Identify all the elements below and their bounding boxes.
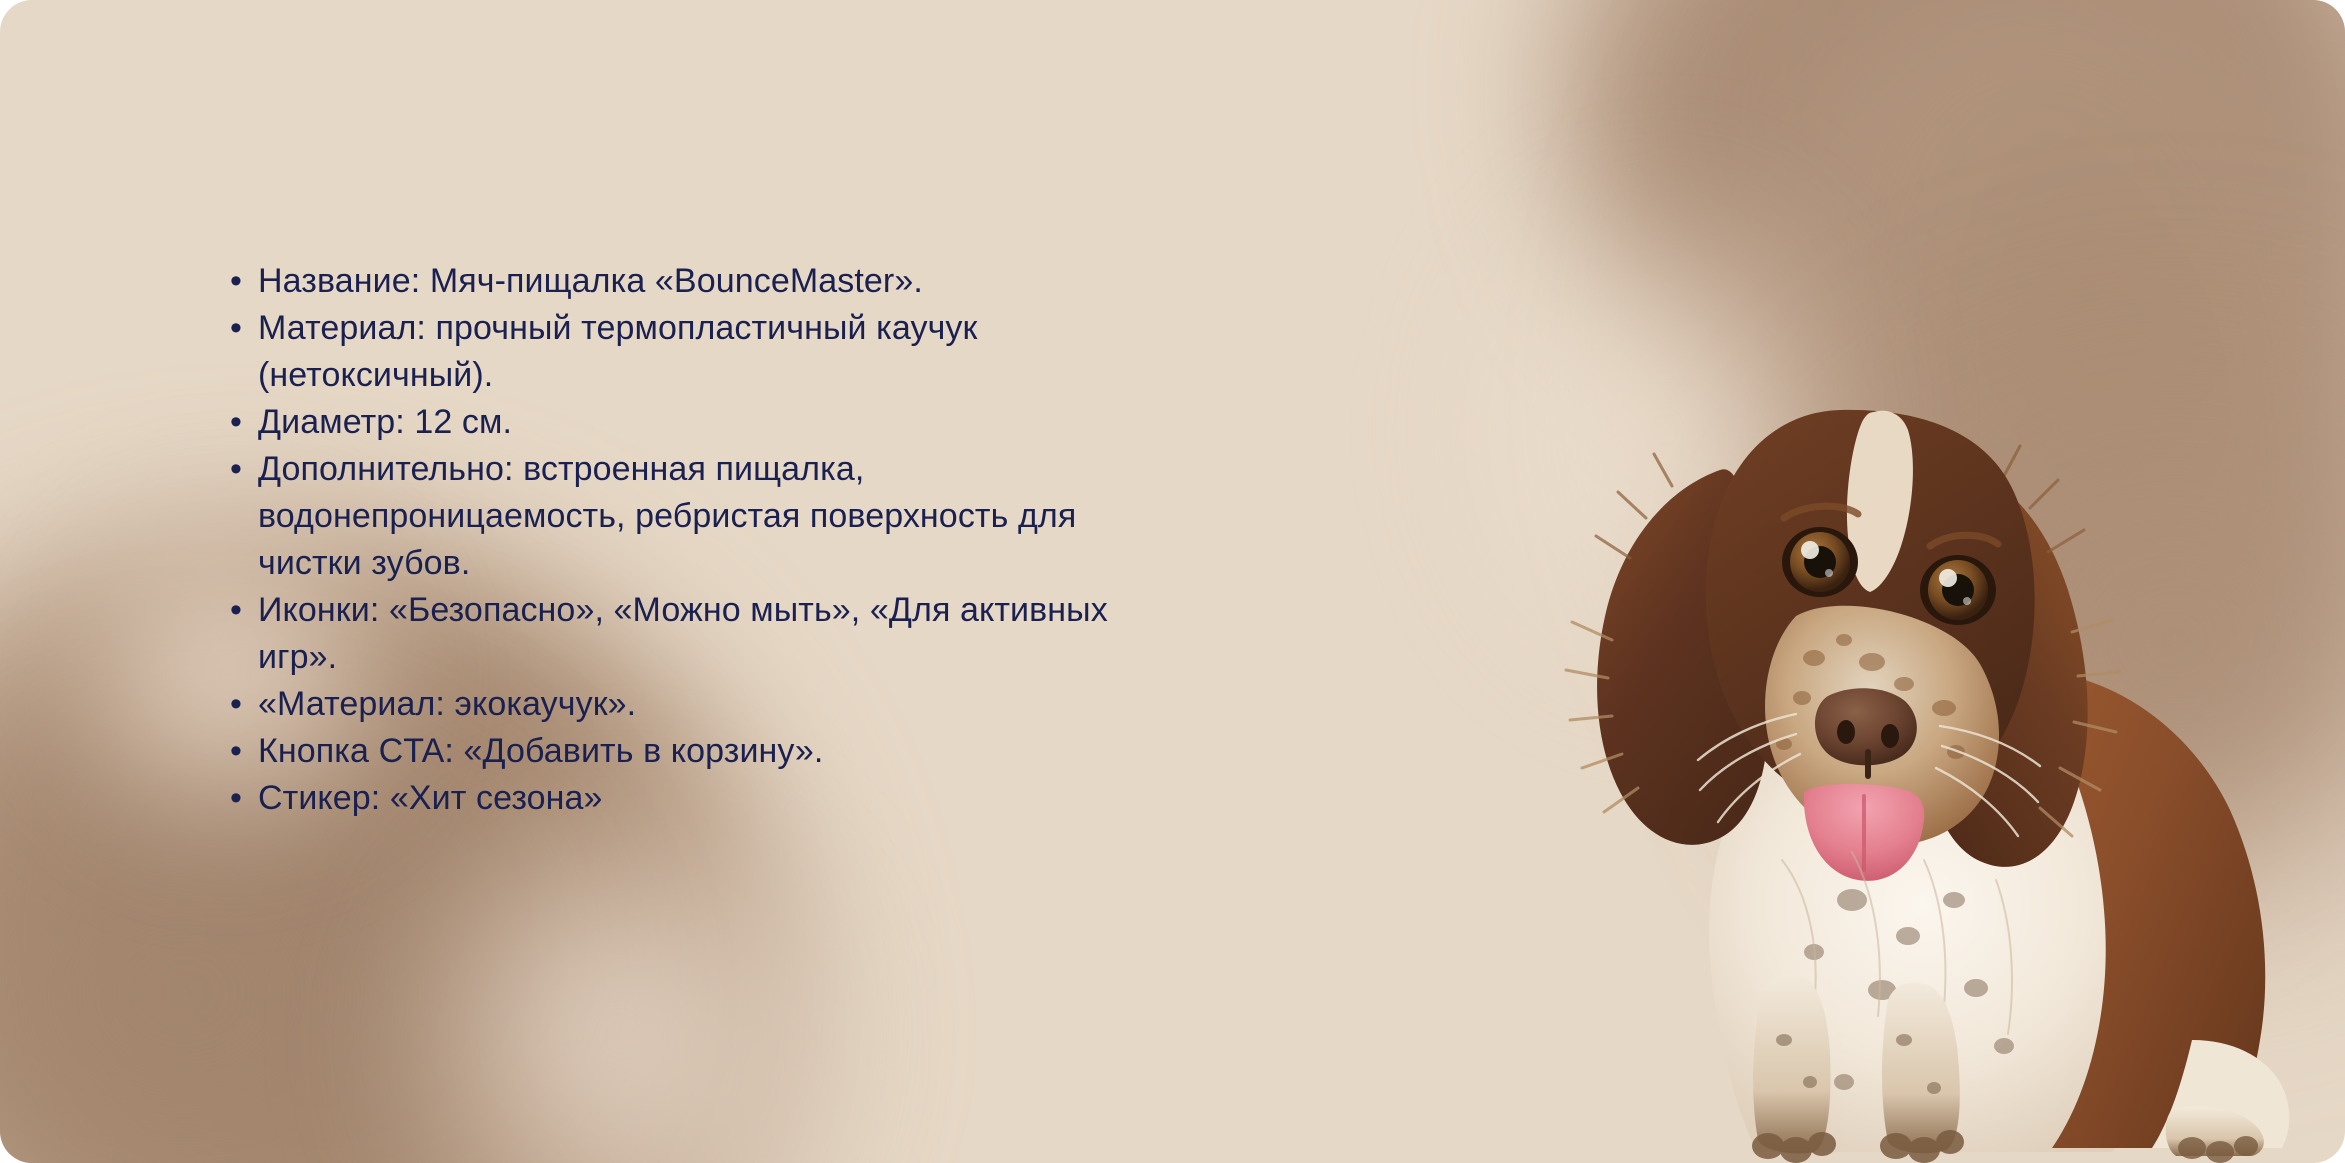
bullet-marker-icon: • <box>228 258 258 305</box>
spec-list-item: •водонепроницаемость, ребристая поверхно… <box>228 493 1558 540</box>
spec-list-item-text: Название: Мяч-пищалка «BounceMaster». <box>258 258 923 305</box>
spec-list-item: •игр». <box>228 634 1558 681</box>
bullet-marker-icon: • <box>228 681 258 728</box>
eye-right <box>1920 555 1996 625</box>
promo-card: •Название: Мяч-пищалка «BounceMaster».•М… <box>0 0 2345 1163</box>
spec-list-item-text: «Материал: экокаучук». <box>258 681 636 728</box>
bullet-marker-icon: • <box>228 728 258 775</box>
puppy-photo <box>1552 340 2345 1163</box>
spec-list-item: •Материал: прочный термопластичный каучу… <box>228 305 1558 352</box>
spec-list-item: •(нетоксичный). <box>228 352 1558 399</box>
eye-left <box>1782 527 1858 597</box>
bullet-marker-icon: • <box>228 399 258 446</box>
spec-list-item: •Кнопка CTA: «Добавить в корзину». <box>228 728 1558 775</box>
spec-list-item: •Дополнительно: встроенная пищалка, <box>228 446 1558 493</box>
spec-list-item: •Иконки: «Безопасно», «Можно мыть», «Для… <box>228 587 1558 634</box>
bullet-marker-icon: • <box>228 446 258 493</box>
spec-list-item-text: Кнопка CTA: «Добавить в корзину». <box>258 728 823 775</box>
spec-list-item-text: чистки зубов. <box>258 540 470 587</box>
spec-list-item-text: (нетоксичный). <box>258 352 493 399</box>
spec-list-item-text: Материал: прочный термопластичный каучук <box>258 305 977 352</box>
spec-list-item: •Название: Мяч-пищалка «BounceMaster». <box>228 258 1558 305</box>
bullet-marker-icon: • <box>228 305 258 352</box>
spec-list-item-text: игр». <box>258 634 337 681</box>
spec-list-item: •«Материал: экокаучук». <box>228 681 1558 728</box>
spec-list-item-text: водонепроницаемость, ребристая поверхнос… <box>258 493 1076 540</box>
spec-list-item-text: Дополнительно: встроенная пищалка, <box>258 446 864 493</box>
spec-list-item-text: Иконки: «Безопасно», «Можно мыть», «Для … <box>258 587 1108 634</box>
product-spec-list: •Название: Мяч-пищалка «BounceMaster».•М… <box>228 258 1558 822</box>
spec-list-item-text: Стикер: «Хит сезона» <box>258 775 603 822</box>
spec-list-item: •чистки зубов. <box>228 540 1558 587</box>
spec-list-item-text: Диаметр: 12 см. <box>258 399 512 446</box>
spec-list-item: •Стикер: «Хит сезона» <box>228 775 1558 822</box>
bullet-marker-icon: • <box>228 775 258 822</box>
background-highlight-bottom <box>360 803 880 1163</box>
bullet-marker-icon: • <box>228 587 258 634</box>
spec-list-item: •Диаметр: 12 см. <box>228 399 1558 446</box>
